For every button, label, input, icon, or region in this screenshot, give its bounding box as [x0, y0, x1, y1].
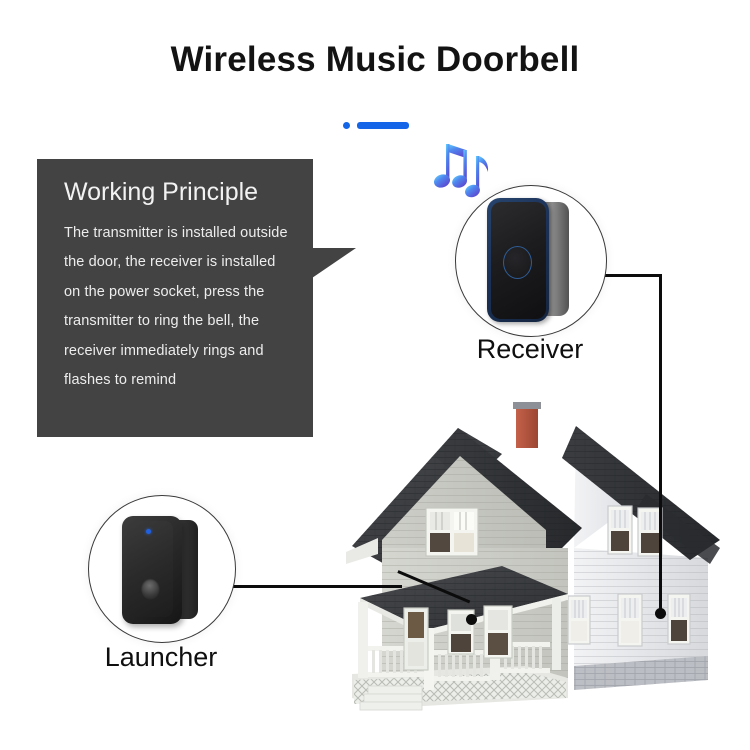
launcher-leader-line-horizontal	[228, 585, 402, 588]
launcher-device	[122, 516, 204, 624]
house-model	[330, 398, 750, 728]
launcher-face	[127, 521, 173, 617]
infographic-canvas: Wireless Music Doorbell Working Principl…	[0, 0, 750, 750]
callout-tail	[312, 248, 356, 278]
receiver-device	[487, 198, 573, 322]
launcher-location-marker	[466, 614, 477, 625]
launcher-button	[141, 578, 160, 600]
receiver-leader-line-vertical	[659, 274, 662, 614]
launcher-frame	[122, 516, 182, 624]
receiver-button	[503, 246, 532, 279]
signal-bar	[357, 122, 409, 129]
wireless-signal-mark	[343, 121, 411, 131]
launcher-label: Launcher	[61, 642, 261, 673]
working-principle-box: Working Principle The transmitter is ins…	[37, 159, 313, 437]
music-notes-icon	[432, 136, 494, 202]
receiver-label: Receiver	[430, 334, 630, 365]
receiver-location-marker	[655, 608, 666, 619]
signal-dot	[343, 122, 350, 129]
working-principle-body: The transmitter is installed outside the…	[64, 219, 291, 396]
launcher-led-indicator	[146, 529, 151, 534]
page-title: Wireless Music Doorbell	[0, 40, 750, 80]
working-principle-heading: Working Principle	[64, 177, 291, 207]
receiver-frame	[487, 198, 549, 322]
receiver-leader-line-horizontal	[602, 274, 662, 277]
